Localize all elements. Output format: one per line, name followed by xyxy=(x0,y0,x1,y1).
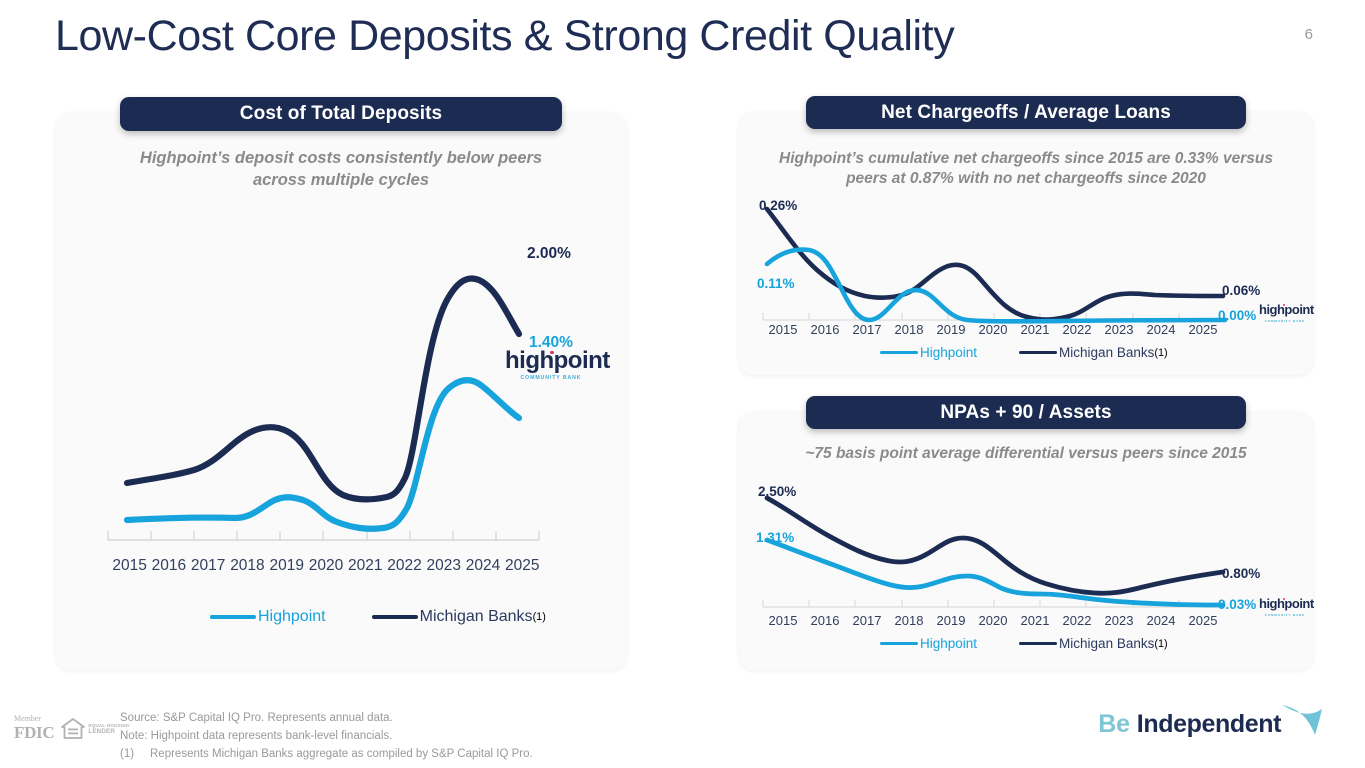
fdic-name-label: FDIC xyxy=(14,724,54,741)
axis-tick-label: 2025 xyxy=(503,557,542,575)
subtitle-cost-of-total-deposits: Highpoint’s deposit costs consistently b… xyxy=(130,148,552,192)
value-label-michigan-npa-start: 2.50% xyxy=(758,484,796,499)
highpoint-logo-tagline: COMMUNITY BANK xyxy=(1259,614,1311,617)
series-highpoint-line xyxy=(127,380,519,529)
legend-item-highpoint: Highpoint xyxy=(210,608,326,626)
highpoint-logo-wordmark: highpoint xyxy=(505,349,610,373)
footnote-source: Source: S&P Capital IQ Pro. Represents a… xyxy=(120,710,533,728)
page-title: Low-Cost Core Deposits & Strong Credit Q… xyxy=(55,12,954,61)
axis-tick-label: 2020 xyxy=(972,613,1014,628)
axis-tick-label: 2017 xyxy=(846,613,888,628)
legend-npas-assets: Highpoint Michigan Banks(1) xyxy=(880,636,1168,651)
axis-tick-label: 2015 xyxy=(762,322,804,337)
footnote-1-marker: (1) xyxy=(120,746,150,764)
highpoint-logo-text: highpoint xyxy=(505,347,610,374)
house-icon xyxy=(60,717,86,741)
axis-tick-label: 2025 xyxy=(1182,322,1224,337)
legend-swatch-highpoint-icon xyxy=(880,642,918,646)
value-label-michigan-nco-start: 0.26% xyxy=(759,198,797,213)
highpoint-logo-tagline: COMMUNITY BANK xyxy=(505,376,597,381)
footnote-1: (1)Represents Michigan Banks aggregate a… xyxy=(120,746,533,764)
equal-housing-lender-badge: EQUAL HOUSING LENDER xyxy=(60,717,129,741)
value-label-highpoint-nco-end: 0.00% xyxy=(1218,308,1256,323)
brand-independent-label: Independent xyxy=(1137,710,1281,739)
value-label-highpoint-npa-end: 0.03% xyxy=(1218,597,1256,612)
legend-item-highpoint: Highpoint xyxy=(880,345,977,360)
axis-tick-label: 2023 xyxy=(424,557,463,575)
axis-tick-label: 2021 xyxy=(346,557,385,575)
axis-tick-label: 2016 xyxy=(804,322,846,337)
ehl-line-2: LENDER xyxy=(88,728,129,735)
legend-footnote-marker: (1) xyxy=(1154,347,1167,359)
be-independent-brand: Be Independent xyxy=(1098,710,1323,739)
axis-tick-label: 2022 xyxy=(385,557,424,575)
legend-footnote-marker: (1) xyxy=(533,611,546,623)
legend-label-highpoint: Highpoint xyxy=(920,636,977,651)
legend-footnote-marker: (1) xyxy=(1154,638,1167,650)
axis-tick-label: 2025 xyxy=(1182,613,1224,628)
highpoint-logo: highpoint COMMUNITY BANK xyxy=(1259,596,1311,617)
axis-tick-label: 2019 xyxy=(930,613,972,628)
subtitle-npas-assets: ~75 basis point average differential ver… xyxy=(760,444,1292,464)
highpoint-logo-text: highpoint xyxy=(1259,596,1314,611)
legend-swatch-michigan-icon xyxy=(372,615,418,620)
axis-tick-label: 2018 xyxy=(888,613,930,628)
axis-tick-label: 2015 xyxy=(762,613,804,628)
axis-tick-label: 2022 xyxy=(1056,613,1098,628)
banner-npas-assets: NPAs + 90 / Assets xyxy=(806,396,1246,429)
axis-tick-label: 2016 xyxy=(149,557,188,575)
bird-swoosh-icon xyxy=(1279,702,1323,736)
value-label-highpoint-npa-start: 1.31% xyxy=(756,530,794,545)
highpoint-logo: highpoint COMMUNITY BANK xyxy=(1259,302,1311,323)
x-axis-cost-of-total-deposits: 2015 2016 2017 2018 2019 2020 2021 2022 … xyxy=(110,557,542,575)
axis-tick-label: 2019 xyxy=(930,322,972,337)
legend-label-michigan: Michigan Banks xyxy=(1059,345,1154,360)
legend-swatch-highpoint-icon xyxy=(880,351,918,355)
legend-swatch-michigan-icon xyxy=(1019,642,1057,646)
axis-tick-label: 2017 xyxy=(846,322,888,337)
fdic-text: Member FDIC xyxy=(14,715,54,741)
axis-tick-label: 2015 xyxy=(110,557,149,575)
legend-item-michigan-banks: Michigan Banks(1) xyxy=(372,608,546,626)
legend-label-michigan: Michigan Banks xyxy=(1059,636,1154,651)
axis-tick-label: 2021 xyxy=(1014,322,1056,337)
slide: Low-Cost Core Deposits & Strong Credit Q… xyxy=(0,0,1365,768)
legend-net-chargeoffs: Highpoint Michigan Banks(1) xyxy=(880,345,1168,360)
axis-tick-label: 2023 xyxy=(1098,613,1140,628)
value-label-michigan-nco-end: 0.06% xyxy=(1222,283,1260,298)
footnotes: Source: S&P Capital IQ Pro. Represents a… xyxy=(120,710,533,763)
highpoint-logo-wordmark: highpoint xyxy=(1259,303,1314,316)
equal-housing-lender-text: EQUAL HOUSING LENDER xyxy=(88,723,129,735)
axis-tick-label: 2016 xyxy=(804,613,846,628)
banner-net-chargeoffs: Net Chargeoffs / Average Loans xyxy=(806,96,1246,129)
value-label-michigan-deposits: 2.00% xyxy=(527,245,571,263)
axis-tick-label: 2017 xyxy=(189,557,228,575)
legend-item-michigan-banks: Michigan Banks(1) xyxy=(1019,636,1168,651)
axis-tick-label: 2018 xyxy=(888,322,930,337)
footnote-1-text: Represents Michigan Banks aggregate as c… xyxy=(150,748,533,760)
legend-label-highpoint: Highpoint xyxy=(258,608,326,626)
axis-tick-label: 2018 xyxy=(228,557,267,575)
series-michigan-banks-line xyxy=(767,209,1223,320)
highpoint-logo: highpoint COMMUNITY BANK xyxy=(505,349,597,381)
legend-cost-of-total-deposits: Highpoint Michigan Banks(1) xyxy=(210,608,546,626)
axis-tick-label: 2023 xyxy=(1098,322,1140,337)
legend-swatch-highpoint-icon xyxy=(210,615,256,620)
axis-tick-label: 2024 xyxy=(1140,613,1182,628)
highpoint-logo-text: highpoint xyxy=(1259,302,1314,317)
banner-cost-of-total-deposits: Cost of Total Deposits xyxy=(120,97,562,131)
fdic-member-label: Member xyxy=(14,715,54,723)
series-michigan-banks-line xyxy=(127,278,519,499)
highpoint-logo-wordmark: highpoint xyxy=(1259,597,1314,610)
legend-swatch-michigan-icon xyxy=(1019,351,1057,355)
axis-tick-label: 2020 xyxy=(972,322,1014,337)
legend-label-highpoint: Highpoint xyxy=(920,345,977,360)
fdic-member-badge: Member FDIC EQUAL HOUSING LENDER xyxy=(14,715,130,741)
legend-label-michigan: Michigan Banks xyxy=(420,608,533,626)
highpoint-logo-tagline: COMMUNITY BANK xyxy=(1259,320,1311,323)
axis-tick-label: 2024 xyxy=(463,557,502,575)
footnote-note: Note: Highpoint data represents bank-lev… xyxy=(120,728,533,746)
axis-tick-label: 2021 xyxy=(1014,613,1056,628)
legend-item-highpoint: Highpoint xyxy=(880,636,977,651)
x-axis-npas-assets: 2015 2016 2017 2018 2019 2020 2021 2022 … xyxy=(762,613,1224,628)
value-label-michigan-npa-end: 0.80% xyxy=(1222,566,1260,581)
page-number: 6 xyxy=(1305,26,1313,43)
value-label-highpoint-nco-start: 0.11% xyxy=(757,276,795,291)
series-michigan-banks-line xyxy=(767,498,1223,593)
subtitle-net-chargeoffs: Highpoint’s cumulative net chargeoffs si… xyxy=(760,149,1292,190)
axis-tick-label: 2024 xyxy=(1140,322,1182,337)
legend-item-michigan-banks: Michigan Banks(1) xyxy=(1019,345,1168,360)
axis-tick-label: 2022 xyxy=(1056,322,1098,337)
axis-tick-label: 2019 xyxy=(267,557,306,575)
x-axis-net-chargeoffs: 2015 2016 2017 2018 2019 2020 2021 2022 … xyxy=(762,322,1224,337)
brand-be-label: Be xyxy=(1098,710,1130,739)
highpoint-logo-dot-icon xyxy=(550,351,554,355)
axis-tick-label: 2020 xyxy=(306,557,345,575)
